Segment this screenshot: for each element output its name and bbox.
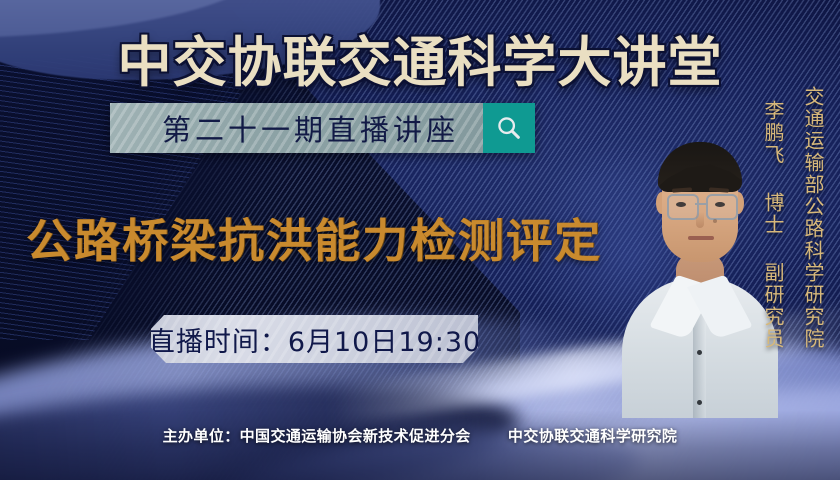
speaker-name-title: 李鹏飞 博士 副研究员 <box>759 100 788 350</box>
live-lecture-poster: 中交协联交通科学大讲堂 第二十一期直播讲座 公路桥梁抗洪能力检测评定 直播时间：… <box>0 0 840 480</box>
speaker-mouth <box>688 236 714 240</box>
search-button[interactable] <box>483 103 535 153</box>
speaker-nose <box>696 212 704 228</box>
glasses-lens-left <box>667 194 699 220</box>
lecture-topic: 公路桥梁抗洪能力检测评定 <box>26 205 602 271</box>
co-organizer-label: 中交协联交通科学研究院 <box>508 427 677 445</box>
glasses-lens-right <box>706 194 738 220</box>
speaker-shirt-button <box>697 350 702 355</box>
speaker-cheek-mark <box>713 219 717 223</box>
episode-banner-body: 第二十一期直播讲座 <box>110 103 483 153</box>
episode-banner: 第二十一期直播讲座 <box>110 103 535 153</box>
organizer-label: 主办单位：中国交通运输协会新技术促进分会 <box>163 427 471 445</box>
speaker-shirt-button <box>697 400 702 405</box>
broadcast-time-label: 直播时间：6月10日19:30 <box>148 320 481 359</box>
episode-label: 第二十一期直播讲座 <box>134 107 459 149</box>
broadcast-time-banner: 直播时间：6月10日19:30 <box>151 315 478 363</box>
speaker-organization: 交通运输部公路科学研究院 <box>799 86 828 350</box>
search-icon <box>495 114 523 142</box>
page-title: 中交协联交通科学大讲堂 <box>0 18 840 97</box>
footer-organizers: 主办单位：中国交通运输协会新技术促进分会 中交协联交通科学研究院 <box>0 425 840 446</box>
glasses-bridge <box>695 203 706 205</box>
speaker-photo <box>614 118 782 418</box>
